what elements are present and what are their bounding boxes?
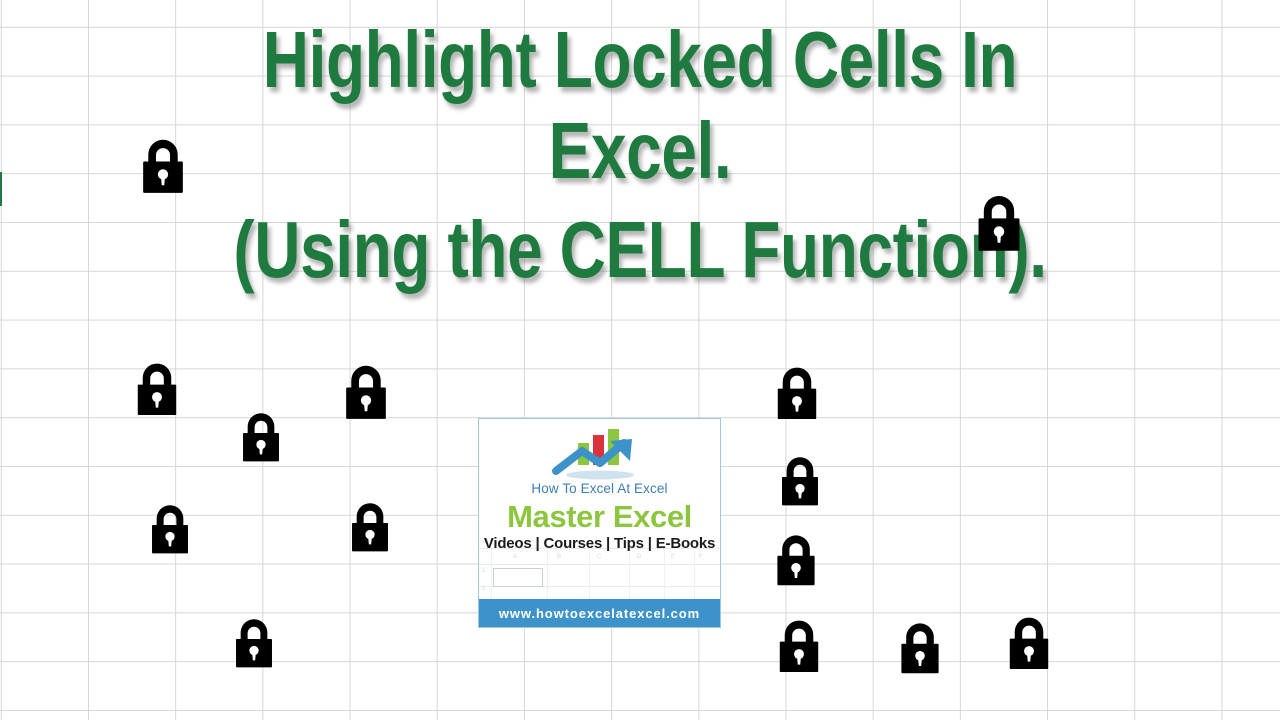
padlock-icon: [225, 614, 283, 672]
padlock-icon: [766, 530, 826, 590]
watermark-label-d: D: [637, 554, 641, 560]
padlock-icon: [334, 360, 398, 424]
watermark-label-c: C: [597, 554, 601, 560]
padlock-icon: [890, 618, 950, 678]
padlock-icon: [766, 362, 828, 424]
logo-subtitle: Videos | Courses | Tips | E-Books: [479, 535, 720, 552]
padlock-icon: [341, 498, 399, 556]
cell-selection-marker: [0, 172, 2, 206]
logo-url-text: www.howtoexcelatexcel.com: [499, 606, 700, 621]
watermark-label-row1: 1: [482, 568, 485, 574]
master-excel-logo-card: A1 A B C D E F 1 2 How To Excel At Excel…: [478, 418, 721, 628]
watermark-label-a: A: [513, 554, 517, 560]
watermark-label-b: B: [557, 554, 561, 560]
padlock-icon: [966, 190, 1032, 256]
padlock-icon: [131, 134, 195, 198]
logo-title: Master Excel: [479, 499, 720, 535]
padlock-icon: [126, 358, 188, 420]
logo-url-bar[interactable]: www.howtoexcelatexcel.com: [478, 599, 721, 627]
watermark-label-f: F: [699, 554, 703, 560]
padlock-icon: [232, 408, 290, 466]
padlock-icon: [768, 615, 830, 677]
bar-chart-arrow-icon: [479, 427, 720, 483]
video-thumbnail-canvas: Highlight Locked Cells In Excel. (Using …: [0, 0, 1280, 720]
watermark-label-row2: 2: [482, 586, 485, 592]
padlock-icon: [141, 500, 199, 558]
padlock-icon: [998, 612, 1060, 674]
padlock-icon: [771, 452, 829, 510]
logo-tagline-top: How To Excel At Excel: [479, 481, 720, 496]
watermark-label-e: E: [671, 554, 675, 560]
